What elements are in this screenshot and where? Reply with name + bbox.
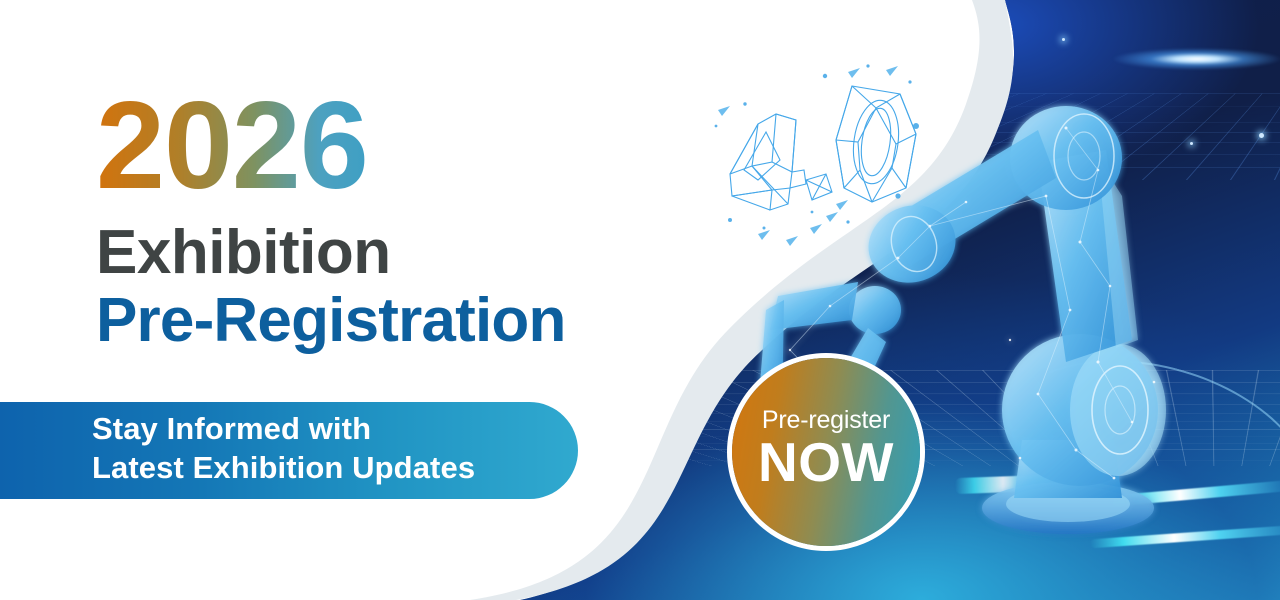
headline-pre-registration: Pre-Registration bbox=[96, 290, 566, 352]
tagline-line-2: Latest Exhibition Updates bbox=[92, 448, 562, 487]
headline-exhibition: Exhibition bbox=[96, 222, 391, 284]
industry-4-0-wireframe-icon bbox=[700, 62, 930, 252]
tagline-text: Stay Informed with Latest Exhibition Upd… bbox=[92, 409, 562, 488]
tagline-line-1: Stay Informed with bbox=[92, 409, 562, 448]
year-heading: 2026 bbox=[96, 84, 368, 208]
badge-label-now: NOW bbox=[732, 435, 920, 490]
pre-register-now-button[interactable]: Pre-register NOW bbox=[732, 358, 920, 546]
pre-registration-banner: 2026 Exhibition Pre-Registration Stay In… bbox=[0, 0, 1280, 600]
robotic-arm-icon bbox=[870, 10, 1280, 590]
